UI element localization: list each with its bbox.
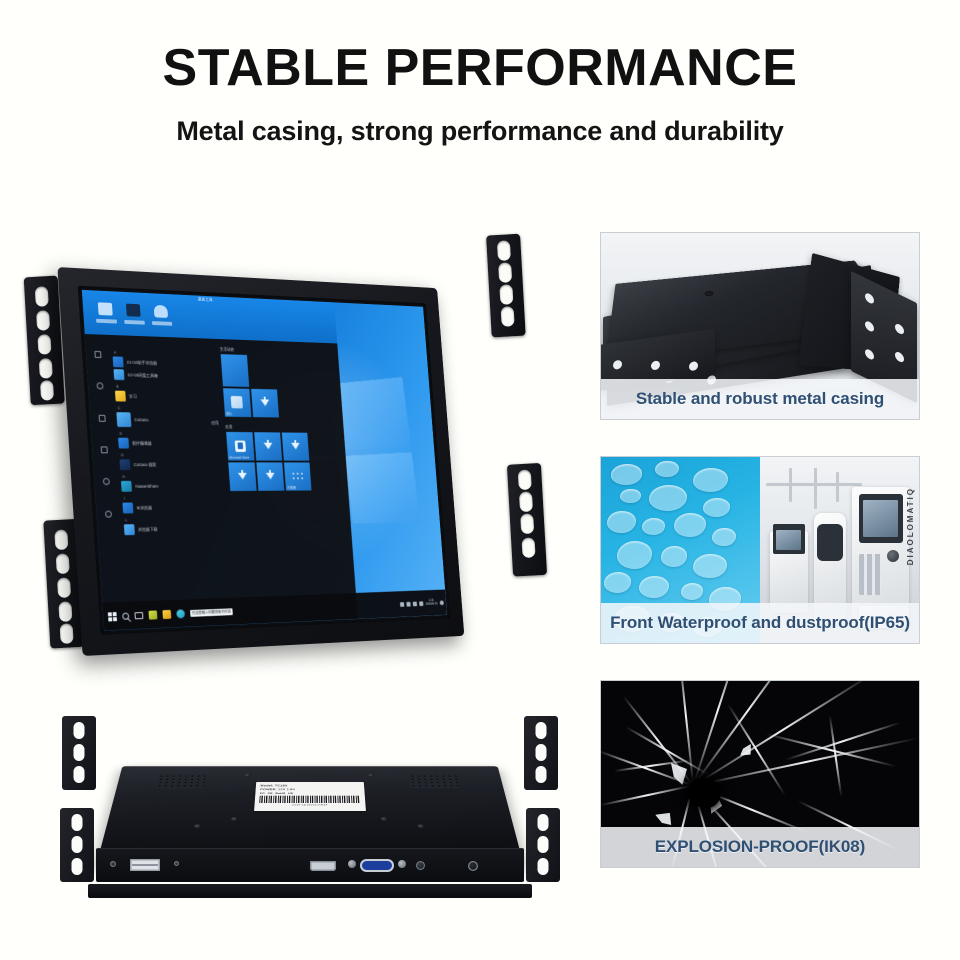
hamburger-icon[interactable]: [95, 351, 102, 358]
desktop-icon-browser[interactable]: [154, 305, 170, 325]
system-tray[interactable]: 1:11 2020/4/10: [399, 590, 445, 617]
ceiling-pipe: [814, 468, 817, 509]
app-label: Cortana 搜索: [133, 462, 156, 468]
power-jack[interactable]: [468, 861, 478, 871]
feature-caption: EXPLOSION-PROOF(IK08): [601, 827, 919, 867]
app-group-header: I: [124, 495, 225, 501]
tile-grid-apps[interactable]: Microsoft Store: [222, 432, 311, 491]
label-model: Model: TC19X: [260, 784, 359, 787]
browser-taskbar-icon[interactable]: [176, 609, 185, 618]
speaker-grille-left: [156, 775, 207, 789]
screw-hole: [231, 817, 238, 821]
speaker-grille-right: [409, 775, 460, 789]
tile-label: 计算器: [287, 485, 296, 490]
ceiling-pipe: [789, 468, 792, 501]
app-group-header: B: [116, 384, 217, 391]
page-subtitle: Metal casing, strong performance and dur…: [0, 94, 960, 147]
app-label: IE浏览器: [136, 505, 152, 511]
app-icon: [113, 369, 124, 380]
search-icon[interactable]: [122, 612, 129, 619]
vga-port[interactable]: [360, 859, 394, 872]
reset-pinhole: [110, 861, 116, 867]
screw-hole: [244, 774, 251, 778]
tray-chevron-icon[interactable]: [400, 602, 404, 607]
list-item[interactable]: IE浏览器: [122, 502, 225, 514]
status-led: [174, 861, 179, 866]
monitor-rear-view: Model: TC19X POWER: 12V 1.5A FC CE RoHS …: [60, 690, 560, 900]
list-item[interactable]: 学习: [115, 391, 218, 404]
monitor-bezel: 桌面工具: [78, 286, 451, 635]
photos-tile[interactable]: 照片: [223, 388, 251, 417]
app-icon: [118, 438, 129, 449]
rear-brackets-right: [520, 690, 560, 900]
feature-caption: Stable and robust metal casing: [601, 379, 919, 419]
list-item[interactable]: 浏览器下载: [124, 523, 227, 536]
screw-hole: [194, 824, 201, 828]
app-label: 21×10助手浏览器: [127, 360, 158, 367]
feature-panel-explosion-proof: EXPLOSION-PROOF(IK08): [600, 680, 920, 868]
mounting-bracket-bottom-right: [507, 463, 547, 577]
action-center-icon[interactable]: [440, 600, 444, 605]
file-explorer-icon[interactable]: [148, 610, 157, 619]
machine-screen-front: [863, 500, 898, 537]
monitor-front-view: 桌面工具: [17, 231, 560, 679]
barcode: [259, 795, 360, 802]
app-icon: [116, 413, 131, 428]
list-item[interactable]: Cortana: [116, 413, 219, 429]
start-menu: # 21×10助手浏览器 21×15网盘工具箱 B: [85, 334, 358, 631]
feature-panel-waterproof: DIAOLOMATIQ Front Waterproof and dustpro…: [600, 456, 920, 644]
product-photo-column: 桌面工具: [0, 180, 590, 960]
app-label: Cortana: [134, 418, 148, 423]
settings-gear-icon[interactable]: [103, 478, 110, 485]
rear-mounting-bracket-right-bottom: [526, 808, 560, 882]
app-group-header: G: [121, 453, 222, 458]
rear-mounting-bracket-right-top: [524, 716, 558, 790]
documents-icon[interactable]: [99, 414, 106, 421]
search-tooltip: 在这里输入你要搜索的内容: [190, 608, 233, 617]
certification-marks: FC CE RoHS US: [260, 792, 360, 795]
app-label: 学习: [129, 394, 137, 400]
power-icon[interactable]: [105, 510, 112, 517]
app-icon: [112, 357, 123, 368]
feature-caption: Front Waterproof and dustproof(IP65): [601, 603, 919, 643]
download-tile-1[interactable]: [251, 389, 279, 418]
tile-grid-life[interactable]: [217, 354, 341, 389]
rear-mounting-bracket-left-bottom: [60, 808, 94, 882]
barcode-number: 2019 1E19021J4N54: [259, 803, 361, 805]
product-label: Model: TC19X POWER: 12V 1.5A FC CE RoHS …: [254, 782, 366, 811]
desktop-icon-recycle-bin[interactable]: [126, 304, 142, 324]
app-icon: [122, 503, 133, 514]
tile-grid-life-2[interactable]: 照片: [219, 388, 343, 418]
desktop-area-label: 桌面工具: [198, 296, 213, 302]
list-item[interactable]: HuaweiShare: [121, 481, 224, 492]
impact-point: [687, 778, 721, 808]
usb-port[interactable]: [130, 859, 160, 871]
feature-panel-column: Stable and robust metal casing: [600, 232, 920, 904]
rear-bottom-edge: [88, 884, 532, 898]
app-icon: [119, 460, 130, 471]
list-item[interactable]: 图片编辑器: [118, 438, 221, 449]
machine-brand-text: DIAOLOMATIQ: [906, 487, 915, 565]
crack-branch: [728, 704, 787, 796]
pictures-icon[interactable]: [101, 446, 108, 453]
tile-blank[interactable]: [220, 354, 249, 387]
tray-volume-icon[interactable]: [413, 601, 417, 606]
list-item[interactable]: Cortana 搜索: [119, 460, 222, 471]
screw-hole: [368, 774, 375, 778]
app-label: 21×15网盘工具箱: [127, 372, 158, 379]
app-label: HuaweiShare: [135, 484, 159, 489]
screw-hole: [380, 817, 387, 821]
start-menu-app-list[interactable]: # 21×10助手浏览器 21×15网盘工具箱 B: [109, 340, 232, 623]
cert-rohs: RoHS: [275, 792, 285, 795]
hdmi-port[interactable]: [310, 861, 336, 871]
taskbar-clock[interactable]: 1:11 2020/4/10: [425, 599, 437, 607]
tile-label: Microsoft Store: [229, 455, 249, 459]
store-taskbar-icon[interactable]: [162, 610, 171, 619]
label-power: POWER: 12V 1.5A: [260, 788, 360, 791]
download-tile-4[interactable]: [228, 462, 256, 491]
ceiling-pipe: [836, 472, 839, 502]
download-tile-3[interactable]: [281, 432, 309, 460]
machine-panel-middle: [817, 524, 842, 561]
desktop-icon-my-computer[interactable]: [98, 303, 114, 323]
app-group-header: D: [119, 431, 220, 437]
feature-panel-metal-casing: Stable and robust metal casing: [600, 232, 920, 420]
screw-hole: [417, 824, 424, 828]
tray-input-icon[interactable]: [419, 601, 423, 606]
microsoft-store-tile[interactable]: Microsoft Store: [226, 432, 254, 461]
monitor-screen: 桌面工具: [82, 290, 447, 631]
vga-screw-right: [398, 860, 406, 868]
app-icon: [115, 391, 126, 402]
audio-jack[interactable]: [416, 861, 425, 870]
calculator-tile[interactable]: 计算器: [284, 462, 312, 490]
account-icon[interactable]: [97, 383, 104, 390]
download-tile-5[interactable]: [256, 462, 284, 490]
app-group-header: H: [122, 474, 223, 479]
tile-group-label: 应用: [225, 424, 344, 431]
crack-line: [601, 785, 693, 806]
task-view-icon[interactable]: [134, 612, 143, 619]
tile-label: 照片: [226, 411, 232, 416]
cert-ul: US: [288, 792, 293, 795]
monitor-chassis: 桌面工具: [57, 267, 464, 656]
list-item[interactable]: 21×15网盘工具箱: [113, 369, 216, 382]
app-label: 浏览器下载: [138, 527, 158, 533]
vga-screw-left: [348, 860, 356, 868]
list-item[interactable]: 21×10助手浏览器: [112, 357, 215, 371]
tray-network-icon[interactable]: [406, 602, 410, 607]
crack-line: [693, 681, 872, 787]
rear-brackets-left: [60, 690, 100, 900]
app-group-header: C: [118, 406, 219, 413]
rear-mounting-bracket-left-top: [62, 716, 96, 790]
tile-area-label: 应用: [211, 420, 219, 426]
port-strip: [96, 848, 524, 882]
download-tile-2[interactable]: [254, 432, 282, 460]
start-menu-tiles[interactable]: 生活动态 照片: [216, 344, 357, 619]
cert-fcc: FC: [260, 792, 265, 795]
app-icon: [124, 525, 135, 536]
windows-start-icon[interactable]: [108, 612, 117, 621]
app-icon: [121, 481, 132, 492]
cert-ce: CE: [267, 792, 272, 795]
app-label: 图片编辑器: [132, 441, 152, 447]
page-title: STABLE PERFORMANCE: [0, 0, 960, 94]
clock-date: 2020/4/10: [426, 603, 438, 607]
machine-screen-back: [776, 530, 801, 550]
crack-branch: [766, 733, 896, 767]
header: STABLE PERFORMANCE Metal casing, strong …: [0, 0, 960, 170]
mounting-bracket-top-right: [486, 234, 526, 338]
app-group-header: L: [125, 516, 226, 522]
machine-keypad: [859, 554, 881, 595]
